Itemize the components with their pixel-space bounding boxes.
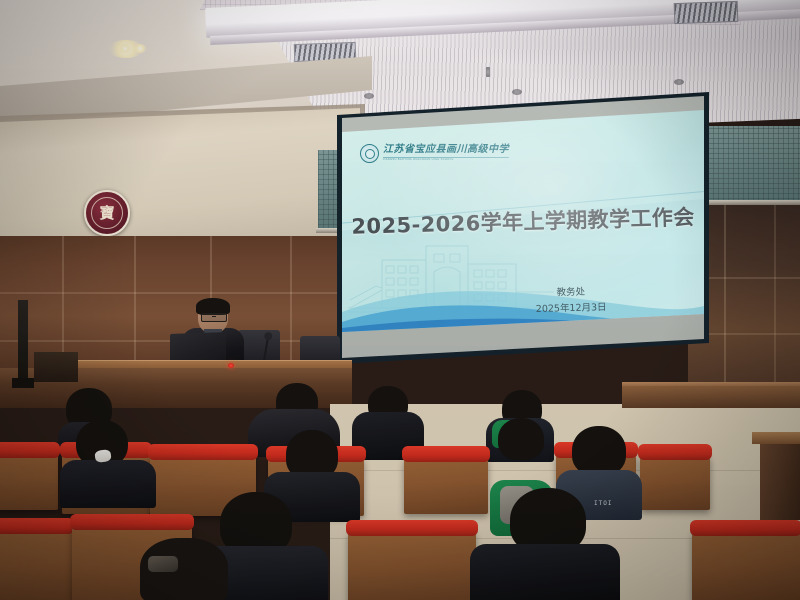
auditorium-photo: 寶: [0, 0, 800, 600]
attendee-front-right: [470, 488, 620, 600]
attendee-head: [572, 426, 626, 476]
stage-step: [34, 352, 78, 382]
slide-school-logo: 江苏省宝应县画川高级中学 JIANGSU BAOYING HUACHUAN HI…: [360, 144, 509, 163]
attendee-body: [60, 460, 156, 508]
projected-slide: 江苏省宝应县画川高级中学 JIANGSU BAOYING HUACHUAN HI…: [342, 110, 704, 332]
side-desk: [622, 386, 800, 408]
attendee-body: [470, 544, 620, 600]
attendee-head: [498, 418, 544, 460]
recessed-downlight-icon: [118, 44, 132, 53]
air-vent-icon: [674, 1, 739, 24]
auditorium-seat: [0, 452, 58, 510]
smoke-detector-icon: [512, 89, 522, 95]
slide-logo-cn: 江苏省宝应县画川高级中学: [383, 145, 509, 155]
school-logo-mark-icon: [360, 144, 379, 163]
sprinkler-icon: [486, 67, 490, 77]
upper-wall: [0, 108, 360, 240]
panel-seam: [724, 205, 726, 405]
side-desk-surface: [752, 432, 800, 444]
smoke-detector-icon: [674, 79, 684, 85]
auditorium-seat: [692, 530, 800, 600]
status-light-icon: [228, 363, 234, 368]
emblem-character: 寶: [99, 206, 114, 221]
hair-clip-icon: [148, 556, 178, 572]
attendee-masked: [60, 420, 156, 504]
glasses-icon: [201, 313, 227, 322]
speaker-column-base: [12, 378, 34, 388]
emblem-ring: 寶: [91, 197, 123, 229]
smoke-detector-icon: [364, 93, 374, 99]
panel-seam: [774, 205, 776, 405]
panel-seam: [0, 292, 340, 294]
recessed-downlight-icon: [133, 44, 147, 53]
school-emblem-icon: 寶: [84, 190, 130, 236]
auditorium-seat: [640, 454, 710, 510]
auditorium-seat: [348, 530, 476, 600]
auditorium-seat: [0, 528, 72, 600]
attendee-front-left-hair: [118, 538, 254, 600]
slide-logo-en: JIANGSU BAOYING HUACHUAN HIGH SCHOOL: [383, 157, 509, 162]
side-desk-edge: [760, 440, 800, 520]
slide-logo-text: 江苏省宝应县画川高级中学 JIANGSU BAOYING HUACHUAN HI…: [383, 145, 509, 162]
speaker-column: [18, 300, 28, 380]
stage-chair: [238, 330, 280, 364]
